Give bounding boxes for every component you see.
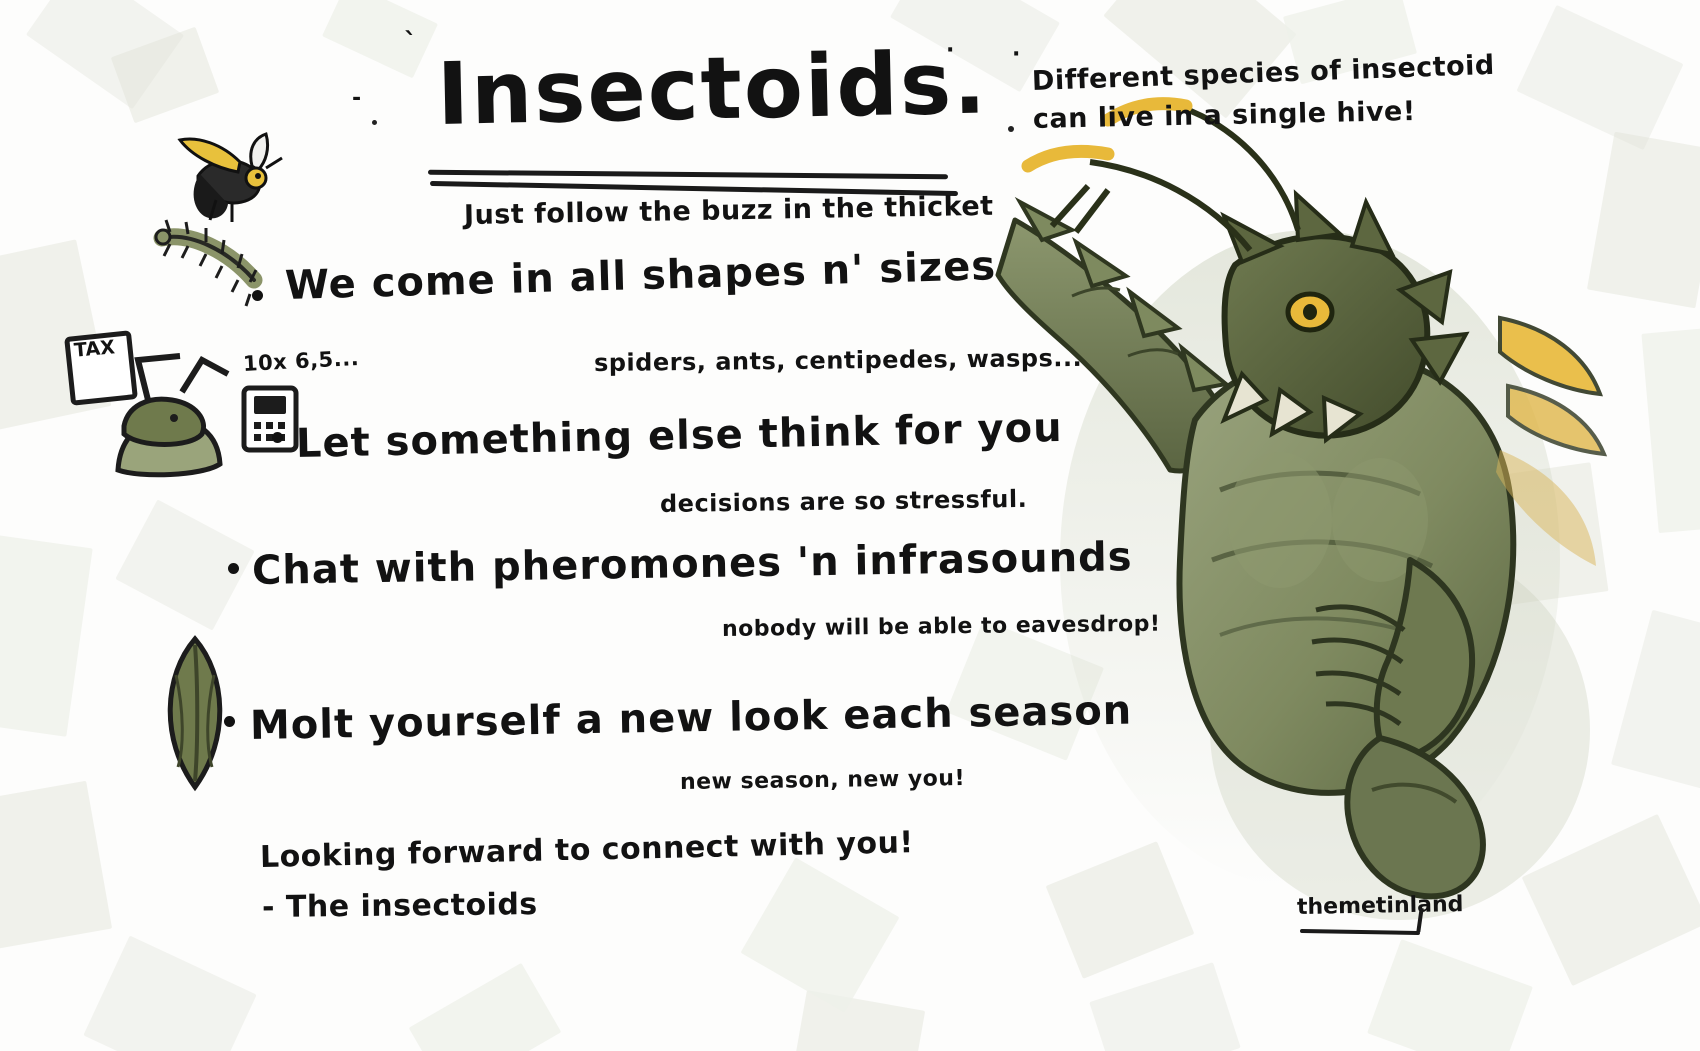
paper-texture-blob (795, 990, 925, 1051)
paper-texture-blob (409, 963, 562, 1051)
bullet-subtext-2: decisions are so stressful. (660, 485, 1028, 518)
insectoid-warrior-illustration (980, 90, 1680, 920)
artist-signature: themetinland (1297, 892, 1464, 920)
ink-speck (372, 120, 377, 125)
ink-speck: ` (404, 28, 418, 58)
page-subtitle: Just follow the buzz in the thicket (464, 191, 994, 231)
poster-canvas: Insectoids. Just follow the buzz in the … (0, 0, 1700, 1051)
ink-speck: - (352, 86, 362, 111)
paper-texture-blob (1367, 939, 1533, 1051)
bullet-text-1: We come in all shapes n' sizes (284, 243, 996, 309)
wasp-doodle (170, 128, 300, 233)
bullet-dot-4 (224, 716, 235, 727)
paper-texture-blob (0, 781, 112, 950)
ink-speck (1008, 126, 1014, 132)
footer-line-1: Looking forward to connect with you! (260, 825, 914, 875)
calculator-note-label: 10x 6,5... (242, 346, 359, 376)
bullet-subtext-3: nobody will be able to eavesdrop! (722, 612, 1161, 642)
signature-underline (1300, 929, 1420, 935)
bullet-text-2: Let something else think for you (296, 405, 1063, 467)
footer-line-2: - The insectoids (262, 887, 538, 925)
paper-texture-blob (741, 857, 900, 1012)
bullet-subtext-4: new season, new you! (680, 766, 965, 795)
bullet-dot-1 (252, 290, 263, 301)
bullet-subtext-1: spiders, ants, centipedes, wasps... (594, 344, 1082, 377)
paper-texture-blob (322, 0, 438, 78)
ink-speck: · (1012, 42, 1021, 67)
page-title: Insectoids. (436, 33, 989, 145)
cocoon-doodle (150, 635, 240, 795)
title-underline-top (428, 170, 948, 180)
paper-texture-blob (1089, 962, 1240, 1051)
bullet-dot-3 (228, 563, 239, 574)
bullet-dot-2 (272, 432, 283, 443)
paper-texture-blob (83, 936, 256, 1051)
paper-texture-blob (0, 533, 93, 736)
ink-speck: · (946, 38, 955, 63)
tax-sign-label: TAX (73, 336, 116, 361)
